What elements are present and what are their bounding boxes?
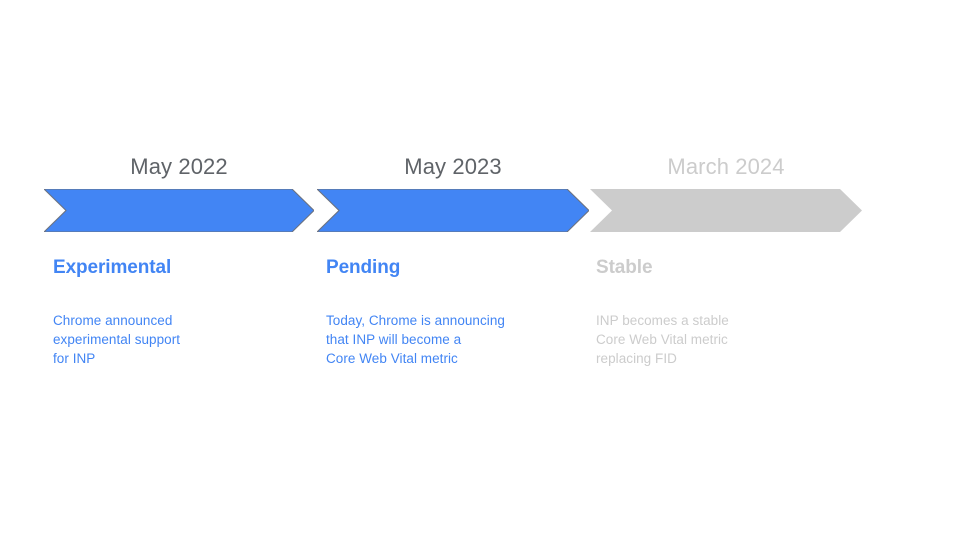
- timeline-chevron-3: [590, 189, 862, 232]
- timeline-stage-body-3: INP becomes a stable Core Web Vital metr…: [596, 311, 858, 369]
- inp-rollout-timeline: May 2022 Experimental Chrome announced e…: [0, 0, 960, 540]
- timeline-stage-heading-1: Experimental: [53, 256, 171, 280]
- timeline-date-label-1: May 2022: [44, 154, 314, 180]
- timeline-date-label-3: March 2024: [590, 154, 862, 180]
- chevron-arrow-icon: [317, 189, 589, 232]
- chevron-arrow-icon: [590, 189, 862, 232]
- chevron-arrow-icon: [44, 189, 314, 232]
- timeline-stage-body-1: Chrome announced experimental support fo…: [53, 311, 311, 369]
- timeline-date-label-2: May 2023: [317, 154, 589, 180]
- timeline-stage-body-2: Today, Chrome is announcing that INP wil…: [326, 311, 588, 369]
- timeline-chevron-2: [317, 189, 589, 232]
- timeline-stage-heading-3: Stable: [596, 256, 652, 280]
- timeline-chevron-1: [44, 189, 314, 232]
- timeline-stage-heading-2: Pending: [326, 256, 400, 280]
